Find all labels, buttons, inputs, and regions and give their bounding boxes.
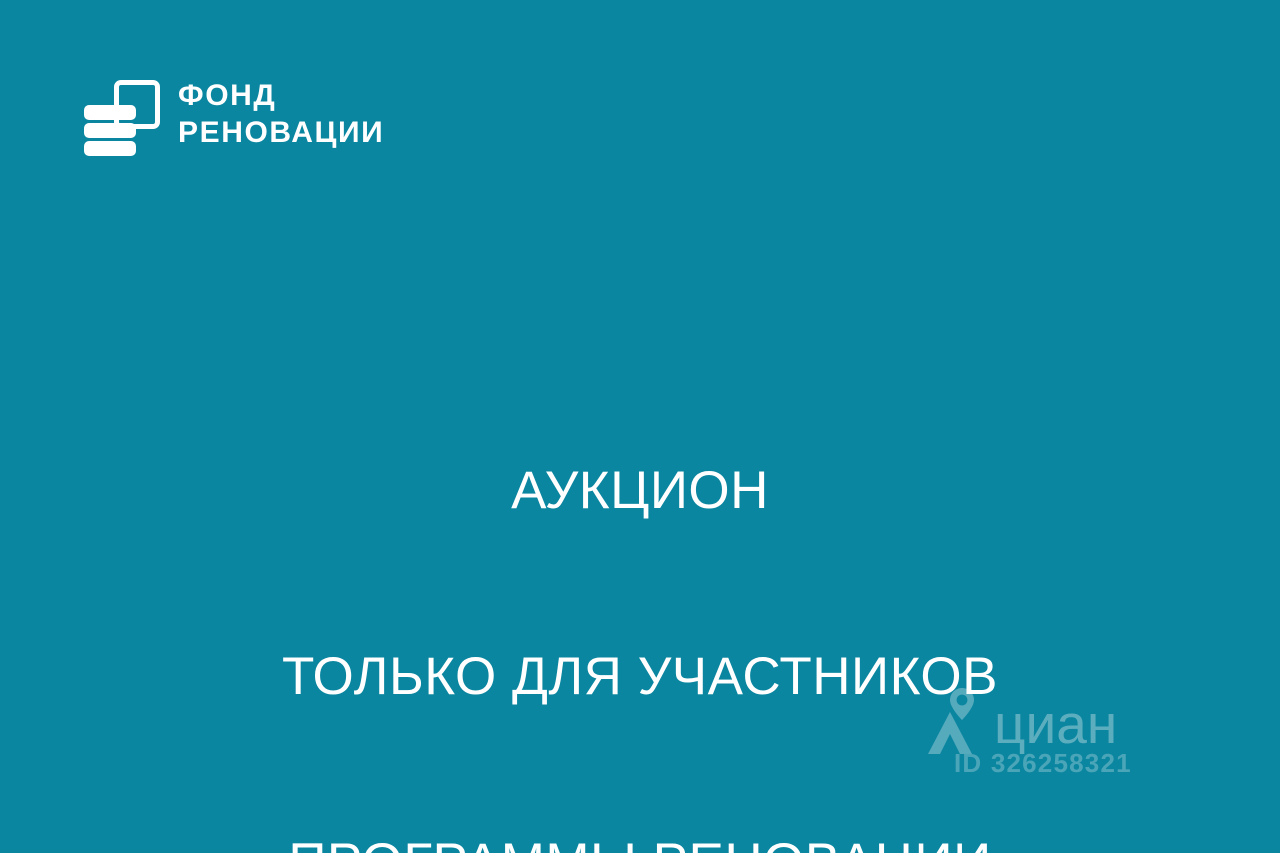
cian-brand-name: циан (994, 697, 1117, 752)
fond-renovatsii-logo: ФОНД РЕНОВАЦИИ (84, 72, 384, 156)
brand-name-line-2: РЕНОВАЦИИ (178, 118, 384, 148)
auction-banner: ФОНД РЕНОВАЦИИ АУКЦИОН ТОЛЬКО ДЛЯ УЧАСТН… (0, 0, 1280, 853)
headline-line-1: АУКЦИОН (0, 460, 1280, 522)
stacked-documents-icon (84, 72, 162, 156)
headline-line-3: ПРОГРАММЫ РЕНОВАЦИИ (0, 832, 1280, 853)
cian-pin-chevron-icon (928, 688, 990, 754)
document-bar-3 (84, 141, 136, 156)
brand-wordmark: ФОНД РЕНОВАЦИИ (178, 81, 384, 148)
cian-watermark: циан ID 326258321 (928, 688, 1158, 788)
document-bar-1 (84, 105, 136, 120)
cian-logo: циан (928, 688, 1117, 754)
document-bar-2 (84, 123, 136, 138)
listing-id-label: ID 326258321 (954, 748, 1132, 779)
brand-name-line-1: ФОНД (178, 81, 384, 111)
